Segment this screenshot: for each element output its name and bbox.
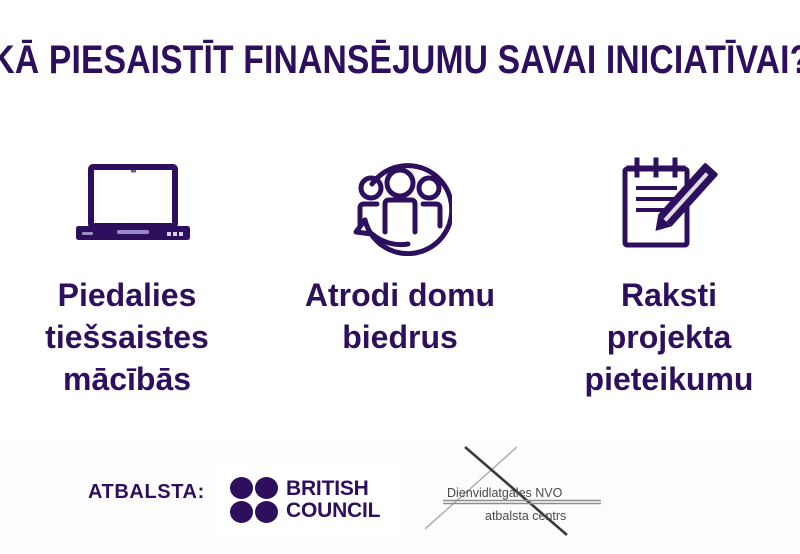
step-label-1: Piedalies tiešsaistes mācībās [45, 274, 209, 401]
supporters-label: ATBALSTA: [88, 481, 205, 504]
laptop-icon [73, 150, 193, 260]
british-council-line-2: COUNCIL [286, 500, 380, 522]
british-council-line-1: BRITISH [286, 478, 380, 500]
step-item-2: Atrodi domu biedrus [267, 150, 533, 358]
steps-row: Piedalies tiešsaistes mācībās [0, 150, 800, 410]
step-item-1: Piedalies tiešsaistes mācībās [0, 150, 266, 401]
step-item-3: Raksti projekta pieteikumu [534, 150, 800, 401]
nvo-logo-line-2: atbalsta centrs [485, 509, 566, 523]
notepad-pencil-icon [615, 150, 719, 260]
dienvidlatgales-nvo-logo: Dienvidlatgales NVO atbalsta centrs Dien… [425, 443, 605, 548]
slide-canvas: KĀ PIESAISTĪT FINANSĒJUMU SAVAI INICIATĪ… [0, 0, 800, 554]
nvo-logo-line-1: Dienvidlatgales NVO [447, 486, 563, 500]
page-title: KĀ PIESAISTĪT FINANSĒJUMU SAVAI INICIATĪ… [0, 30, 800, 90]
people-speech-bubble-icon [348, 150, 452, 260]
british-council-wordmark: BRITISH COUNCIL [286, 478, 380, 523]
british-council-dots-icon [230, 477, 278, 523]
page-title-text: KĀ PIESAISTĪT FINANSĒJUMU SAVAI INICIATĪ… [0, 40, 800, 80]
british-council-logo: BRITISH COUNCIL [218, 459, 403, 541]
step-label-2: Atrodi domu biedrus [305, 274, 495, 358]
step-label-3: Raksti projekta pieteikumu [585, 274, 754, 401]
